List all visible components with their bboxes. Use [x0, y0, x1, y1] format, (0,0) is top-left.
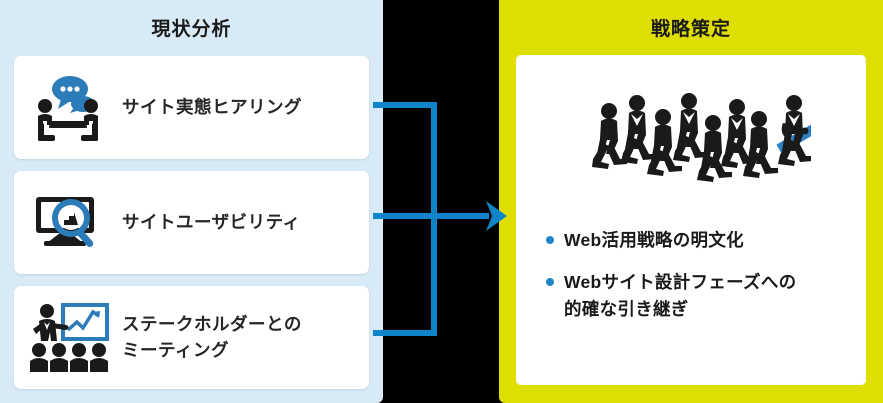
bullet-text-2-line-2: 的確な引き継ぎ — [564, 296, 796, 322]
card-label-line-1: ステークホルダーとの — [122, 312, 302, 337]
card-site-usability[interactable]: サイトユーザビリティ — [14, 171, 369, 274]
bullet-text-2: Webサイト設計フェーズへの 的確な引き継ぎ — [564, 269, 796, 322]
bullet-dot-icon — [546, 278, 554, 286]
list-item: Webサイト設計フェーズへの 的確な引き継ぎ — [546, 269, 852, 322]
presentation-audience-icon — [14, 299, 122, 377]
card-label-site-hearing: サイト実態ヒアリング — [122, 95, 302, 120]
card-label-stakeholder-meeting: ステークホルダーとの ミーティング — [122, 312, 302, 363]
strategy-bullet-list: Web活用戦略の明文化 Webサイト設計フェーズへの 的確な引き継ぎ — [546, 227, 852, 338]
list-item: Web活用戦略の明文化 — [546, 227, 852, 253]
business-people-walking-with-arrow-icon — [516, 81, 866, 201]
strategy-content-card: Web活用戦略の明文化 Webサイト設計フェーズへの 的確な引き継ぎ — [516, 55, 866, 385]
diagram-canvas: 現状分析 — [0, 0, 883, 403]
left-panel-current-analysis: 現状分析 — [0, 0, 383, 403]
bullet-text-1: Web活用戦略の明文化 — [564, 227, 744, 253]
left-panel-title: 現状分析 — [0, 14, 383, 41]
card-site-hearing[interactable]: サイト実態ヒアリング — [14, 56, 369, 159]
bullet-dot-icon — [546, 236, 554, 244]
bullet-text-2-line-1: Webサイト設計フェーズへの — [564, 269, 796, 295]
card-stakeholder-meeting[interactable]: ステークホルダーとの ミーティング — [14, 286, 369, 389]
right-panel-title: 戦略策定 — [499, 14, 883, 41]
interview-meeting-icon — [14, 71, 122, 145]
right-panel-strategy-planning: 戦略策定 — [499, 0, 883, 403]
card-label-line-2: ミーティング — [122, 338, 302, 363]
monitor-magnifier-icon — [14, 191, 122, 255]
card-label-site-usability: サイトユーザビリティ — [122, 210, 301, 235]
